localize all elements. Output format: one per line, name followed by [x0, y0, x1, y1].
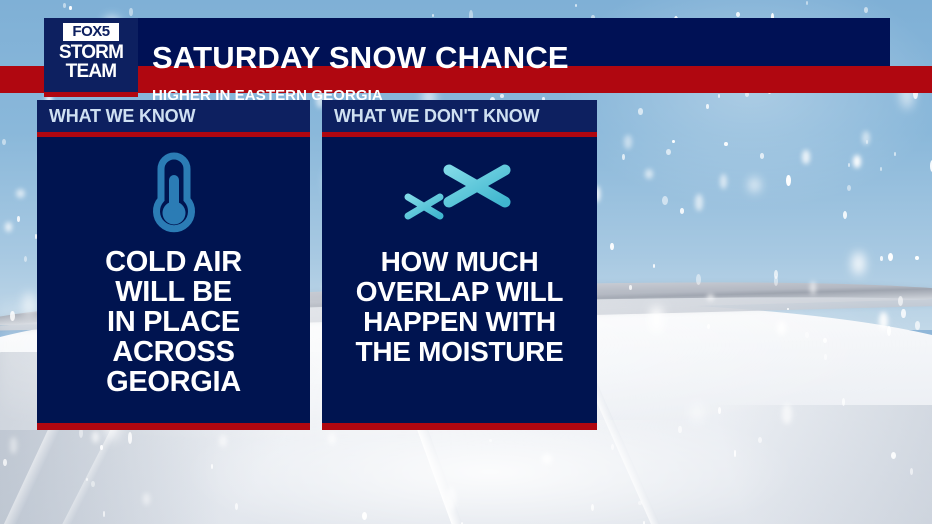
snow-particle: [690, 403, 704, 423]
snow-particle: [100, 445, 103, 450]
snow-particle: [891, 452, 896, 459]
panel-what-we-know: WHAT WE KNOW COLD AIRWILL BEIN PLACEACRO…: [37, 100, 310, 430]
snowflakes-icon: [395, 137, 525, 247]
snow-particle: [143, 493, 150, 505]
snow-particle: [653, 264, 655, 267]
snow-particle: [695, 194, 703, 210]
snow-particle: [542, 454, 552, 464]
snow-particle: [92, 431, 99, 443]
snow-particle: [805, 332, 808, 338]
panel-header: WHAT WE KNOW: [37, 100, 310, 132]
snow-particle: [680, 208, 685, 214]
snow-particle: [894, 152, 896, 156]
snow-particle: [629, 285, 632, 290]
snow-particle: [758, 437, 762, 443]
logo-fox5-text: FOX5: [63, 23, 118, 41]
header-band: FOX5 STORM TEAM SATURDAY SNOW CHANCE HIG…: [0, 18, 932, 93]
snow-particle: [662, 196, 668, 206]
snow-particle: [810, 281, 816, 295]
snow-particle: [24, 256, 27, 262]
snow-particle: [69, 6, 71, 10]
snow-particle: [678, 426, 681, 434]
snow-particle: [696, 274, 701, 285]
snow-particle: [666, 149, 671, 156]
page-subtitle: HIGHER IN EASTERN GEORGIA: [152, 88, 383, 103]
thermometer-icon: [142, 137, 206, 247]
page-title: SATURDAY SNOW CHANCE: [152, 42, 569, 73]
snow-particle: [824, 354, 827, 359]
panel-heading-label: WHAT WE DON'T KNOW: [334, 107, 539, 125]
snow-particle: [10, 311, 15, 321]
snow-particle: [910, 468, 914, 475]
snow-particle: [129, 8, 133, 17]
panel-footer-rule: [37, 423, 310, 430]
snow-particle: [3, 459, 7, 466]
panel-body-text: HOW MUCHOVERLAP WILLHAPPEN WITHTHE MOIST…: [356, 247, 564, 367]
snow-particle: [128, 432, 133, 444]
snow-particle: [718, 407, 722, 415]
snow-particle: [823, 338, 827, 344]
panel-body: COLD AIRWILL BEIN PLACEACROSSGEORGIA: [37, 137, 310, 423]
snow-particle: [707, 324, 710, 329]
snow-particle: [879, 312, 888, 330]
snow-particle: [802, 150, 809, 164]
snow-particle: [16, 189, 25, 198]
snow-particle: [610, 243, 613, 250]
snow-particle: [611, 444, 614, 450]
snow-particle: [782, 404, 792, 424]
panel-header: WHAT WE DON'T KNOW: [322, 100, 597, 132]
snow-particle: [91, 481, 95, 488]
snow-particle: [23, 292, 36, 318]
panel-footer-rule: [322, 423, 597, 430]
snow-particle: [901, 309, 905, 319]
snow-particle: [622, 154, 625, 160]
snow-particle: [848, 163, 851, 167]
snow-particle: [638, 108, 643, 114]
panel-what-we-dont-know: WHAT WE DON'T KNOW: [322, 100, 597, 430]
snow-particle: [2, 139, 6, 145]
snow-particle: [211, 464, 213, 469]
logo-storm-text: STORM: [59, 43, 123, 62]
snow-particle: [736, 12, 740, 17]
panel-body: HOW MUCHOVERLAP WILLHAPPEN WITHTHE MOIST…: [322, 137, 597, 423]
snow-particle: [645, 169, 653, 179]
snow-particle: [638, 501, 642, 505]
snow-particle: [10, 437, 17, 454]
snow-particle: [575, 4, 577, 7]
snow-particle: [591, 504, 594, 511]
logo-team-text: TEAM: [66, 62, 117, 81]
snow-particle: [777, 321, 786, 335]
panel-heading-label: WHAT WE KNOW: [49, 107, 195, 125]
snow-particle: [786, 175, 791, 187]
snow-particle: [63, 3, 66, 8]
snow-particle: [650, 306, 663, 333]
fox5-storm-team-logo: FOX5 STORM TEAM: [44, 18, 138, 97]
snow-particle: [898, 296, 903, 306]
snow-particle: [915, 256, 919, 260]
panel-body-text: COLD AIRWILL BEIN PLACEACROSSGEORGIA: [105, 247, 242, 397]
snow-particle: [446, 487, 456, 511]
